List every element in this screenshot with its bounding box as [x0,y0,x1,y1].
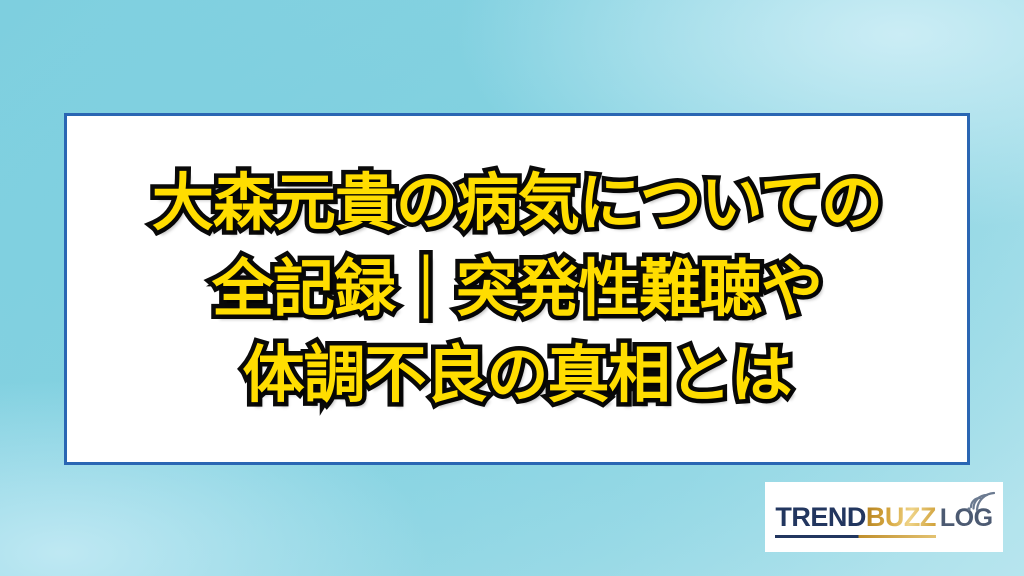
headline-card: 大森元貴の病気についての 全記録｜突発性難聴や 体調不良の真相とは [64,113,970,465]
wifi-signal-icon [965,487,995,511]
thumbnail-canvas: 大森元貴の病気についての 全記録｜突発性難聴や 体調不良の真相とは TREND … [0,0,1024,576]
headline-line-2: 全記録｜突発性難聴や [212,246,822,332]
headline-line-3: 体調不良の真相とは [242,332,791,418]
logo-underline-bar [775,535,935,538]
logo-inner: TREND BUZZ LOG [775,504,992,531]
headline-line-1: 大森元貴の病気についての [152,160,882,246]
logo-word-trend: TREND [775,504,866,531]
site-logo[interactable]: TREND BUZZ LOG [765,482,1003,552]
logo-wordmark: TREND BUZZ [775,504,935,531]
logo-word-buzz: BUZZ [866,504,936,531]
